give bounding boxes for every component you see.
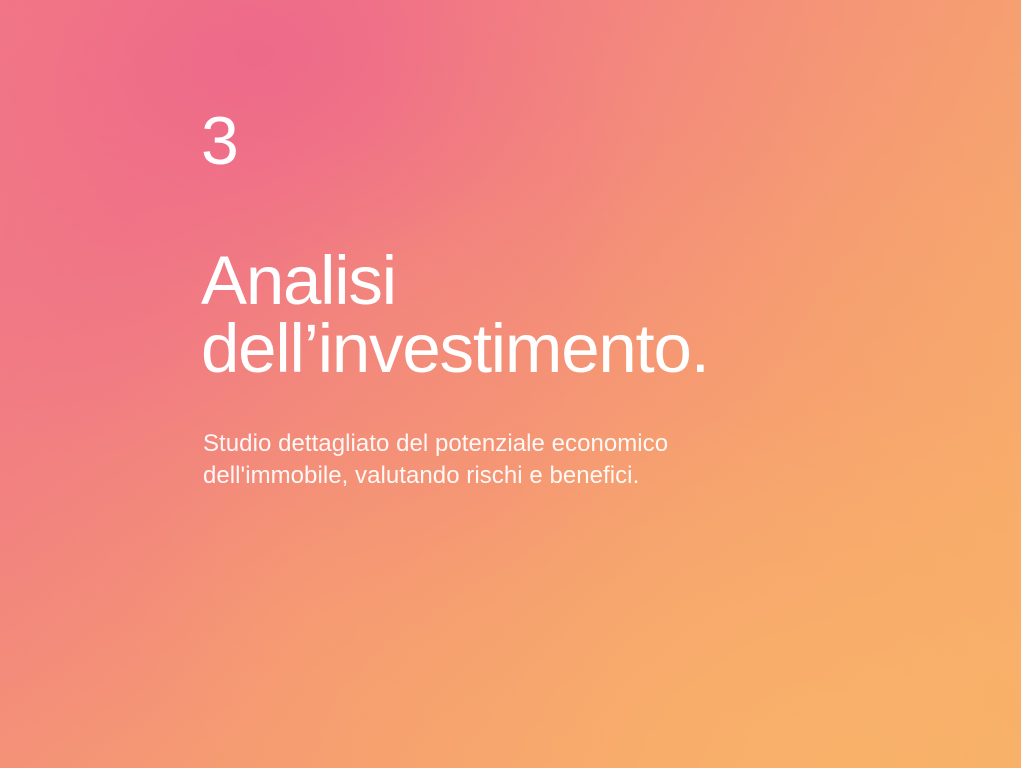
section-number: 3: [201, 107, 238, 175]
subtitle-line-1: Studio dettagliato del potenziale econom…: [203, 428, 668, 460]
subtitle-line-2: dell'immobile, valutando rischi e benefi…: [203, 460, 668, 492]
page-title: Analisi dell’investimento.: [201, 247, 709, 383]
slide-canvas: 3 Analisi dell’investimento. Studio dett…: [0, 0, 1021, 768]
title-line-2: dell’investimento.: [201, 315, 709, 383]
slide-content: 3 Analisi dell’investimento. Studio dett…: [201, 0, 961, 768]
page-subtitle: Studio dettagliato del potenziale econom…: [203, 428, 668, 492]
title-line-1: Analisi: [201, 247, 709, 315]
